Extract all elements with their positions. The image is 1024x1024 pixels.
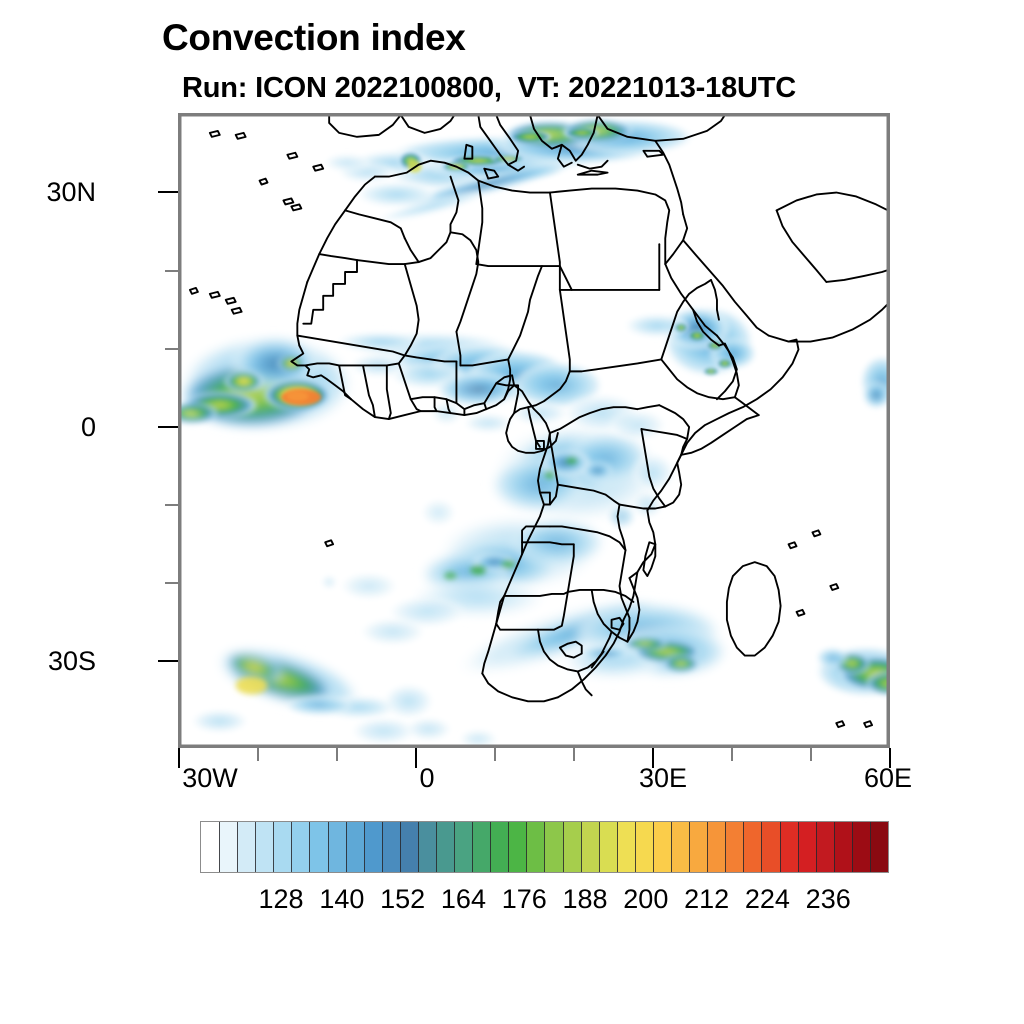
x-tick-label-30W: 30W: [182, 763, 238, 794]
x-tick-label-30E: 30E: [639, 763, 687, 794]
colorbar-cell: [400, 822, 418, 872]
colorbar[interactable]: [200, 821, 889, 873]
colorbar-cell: [617, 822, 635, 872]
colorbar-cell: [635, 822, 653, 872]
colorbar-tick-label: 188: [562, 884, 607, 915]
colorbar-tick-label: 212: [684, 884, 729, 915]
colorbar-cell: [780, 822, 798, 872]
colorbar-cell: [490, 822, 508, 872]
colorbar-tick-label: 152: [380, 884, 425, 915]
colorbar-tick-label: 128: [259, 884, 304, 915]
run-valid-time-subtitle: Run: ICON 2022100800, VT: 20221013-18UTC: [182, 72, 796, 105]
x-tick-20E: [573, 748, 575, 761]
y-tick-0: [158, 426, 178, 428]
y-tick-label-0: 0: [81, 412, 96, 443]
x-tick-label-0: 0: [419, 763, 434, 794]
y-tick-30N: [158, 191, 178, 193]
x-tick-30W: [178, 748, 180, 768]
y-tick-20S: [165, 582, 178, 584]
colorbar-tick-label: 236: [806, 884, 851, 915]
page-title: Convection index: [162, 17, 466, 59]
colorbar-cell: [508, 822, 526, 872]
colorbar-cell: [364, 822, 382, 872]
y-tick-label-30S: 30S: [48, 646, 96, 677]
colorbar-cell: [309, 822, 327, 872]
colorbar-cell: [798, 822, 816, 872]
colorbar-cell: [346, 822, 364, 872]
colorbar-cell: [671, 822, 689, 872]
colorbar-cell: [816, 822, 834, 872]
colorbar-cell: [273, 822, 291, 872]
colorbar-cell: [201, 822, 219, 872]
colorbar-tick-label: 140: [319, 884, 364, 915]
colorbar-cell: [526, 822, 544, 872]
colorbar-cell: [852, 822, 870, 872]
y-tick-30S: [158, 660, 178, 662]
colorbar-cell: [219, 822, 237, 872]
colorbar-tick-label: 200: [623, 884, 668, 915]
y-tick-10N: [165, 348, 178, 350]
colorbar-cell: [834, 822, 852, 872]
colorbar-cell: [563, 822, 581, 872]
x-tick-0: [415, 748, 417, 768]
x-tick-50E: [810, 748, 812, 761]
colorbar-cell: [707, 822, 725, 872]
y-tick-20N: [165, 270, 178, 272]
colorbar-cell: [472, 822, 490, 872]
x-tick-10W: [336, 748, 338, 761]
map-plot-area[interactable]: [178, 113, 890, 748]
colorbar-cell: [581, 822, 599, 872]
y-tick-label-30N: 30N: [46, 177, 96, 208]
x-tick-20W: [257, 748, 259, 761]
x-tick-40E: [731, 748, 733, 761]
colorbar-tick-label: 224: [745, 884, 790, 915]
x-tick-10E: [494, 748, 496, 761]
colorbar-cell: [653, 822, 671, 872]
colorbar-cell: [237, 822, 255, 872]
colorbar-tick-label: 176: [502, 884, 547, 915]
colorbar-cell: [255, 822, 273, 872]
colorbar-tick-label: 164: [441, 884, 486, 915]
colorbar-cell: [436, 822, 454, 872]
colorbar-cell: [725, 822, 743, 872]
colorbar-cell: [291, 822, 309, 872]
colorbar-cell: [454, 822, 472, 872]
colorbar-cell: [328, 822, 346, 872]
convection-index-map: [180, 115, 888, 746]
colorbar-cell: [544, 822, 562, 872]
colorbar-cell: [418, 822, 436, 872]
colorbar-cell: [870, 822, 888, 872]
y-tick-10S: [165, 504, 178, 506]
colorbar-cell: [689, 822, 707, 872]
colorbar-cell: [382, 822, 400, 872]
colorbar-cell: [743, 822, 761, 872]
x-tick-label-60E: 60E: [864, 763, 912, 794]
colorbar-cell: [599, 822, 617, 872]
colorbar-cell: [761, 822, 779, 872]
